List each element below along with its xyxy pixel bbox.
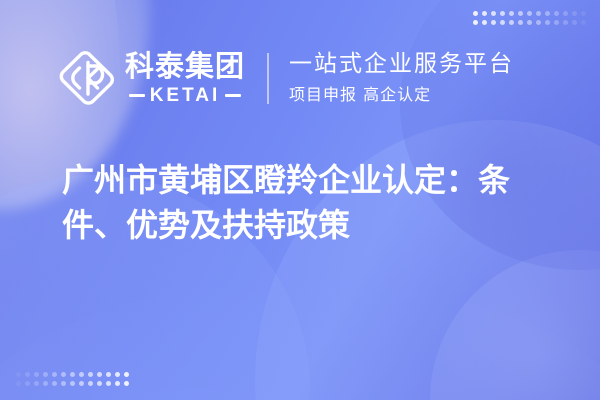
dot [536, 20, 541, 25]
dot [97, 372, 102, 377]
dot-row [473, 11, 586, 16]
dot [491, 11, 496, 16]
dot [16, 381, 21, 386]
dot [115, 372, 120, 377]
promo-banner: 科泰集团 KETAI 一站式企业服务平台 项目申报 高企认定 广州市黄埔区瞪羚企… [0, 0, 600, 400]
dot [491, 20, 496, 25]
dot [527, 20, 532, 25]
dot [509, 11, 514, 16]
dot [106, 381, 111, 386]
dot [527, 11, 532, 16]
brand-name-cn: 科泰集团 [125, 52, 245, 81]
dot [473, 11, 478, 16]
brand-name-en-row: KETAI [129, 86, 242, 105]
background-blob-right [430, 250, 600, 400]
dot [536, 11, 541, 16]
dot-row [473, 20, 586, 25]
dot [52, 381, 57, 386]
dot [554, 11, 559, 16]
dot [34, 372, 39, 377]
header-divider [267, 53, 269, 104]
dot [545, 11, 550, 16]
slogan-secondary: 项目申报 高企认定 [289, 84, 514, 106]
dot [563, 11, 568, 16]
dot [581, 11, 586, 16]
dot [70, 372, 75, 377]
brand-name-en: KETAI [150, 86, 221, 105]
dot [61, 372, 66, 377]
dot [572, 20, 577, 25]
ketai-diamond-kp-monogram-icon [58, 49, 116, 107]
dot [70, 381, 75, 386]
dot [473, 20, 478, 25]
dot [16, 372, 21, 377]
dot [25, 372, 30, 377]
dot [124, 381, 129, 386]
dot [509, 20, 514, 25]
banner-header: 科泰集团 KETAI 一站式企业服务平台 项目申报 高企认定 [0, 40, 600, 116]
dot [482, 11, 487, 16]
dot [88, 381, 93, 386]
dot [52, 372, 57, 377]
dot [88, 372, 93, 377]
dot [43, 381, 48, 386]
dot [500, 20, 505, 25]
dot [518, 20, 523, 25]
dot [106, 372, 111, 377]
dot [518, 11, 523, 16]
dot [43, 372, 48, 377]
brand-wordmark: 科泰集团 KETAI [125, 52, 245, 105]
dot [124, 372, 129, 377]
wordmark-rule-left [129, 94, 145, 97]
dot-grid-bottomleft [16, 372, 129, 386]
dot [572, 11, 577, 16]
dot [115, 381, 120, 386]
dot [581, 20, 586, 25]
banner-headline: 广州市黄埔区瞪羚企业认定：条件、优势及扶持政策 [62, 158, 552, 249]
brand-logo[interactable]: 科泰集团 KETAI [58, 49, 245, 107]
dot [79, 381, 84, 386]
dot [97, 381, 102, 386]
dot [563, 20, 568, 25]
dot [554, 20, 559, 25]
slogan-primary: 一站式企业服务平台 [289, 50, 514, 79]
dot [482, 20, 487, 25]
dot [79, 372, 84, 377]
dot [545, 20, 550, 25]
dot [25, 381, 30, 386]
slogan-block: 一站式企业服务平台 项目申报 高企认定 [289, 50, 514, 105]
wordmark-rule-right [225, 94, 241, 97]
dot [500, 11, 505, 16]
dot [61, 381, 66, 386]
dot [34, 381, 39, 386]
dot-grid-topright [473, 11, 586, 25]
dot-row [16, 372, 129, 377]
dot-row [16, 381, 129, 386]
